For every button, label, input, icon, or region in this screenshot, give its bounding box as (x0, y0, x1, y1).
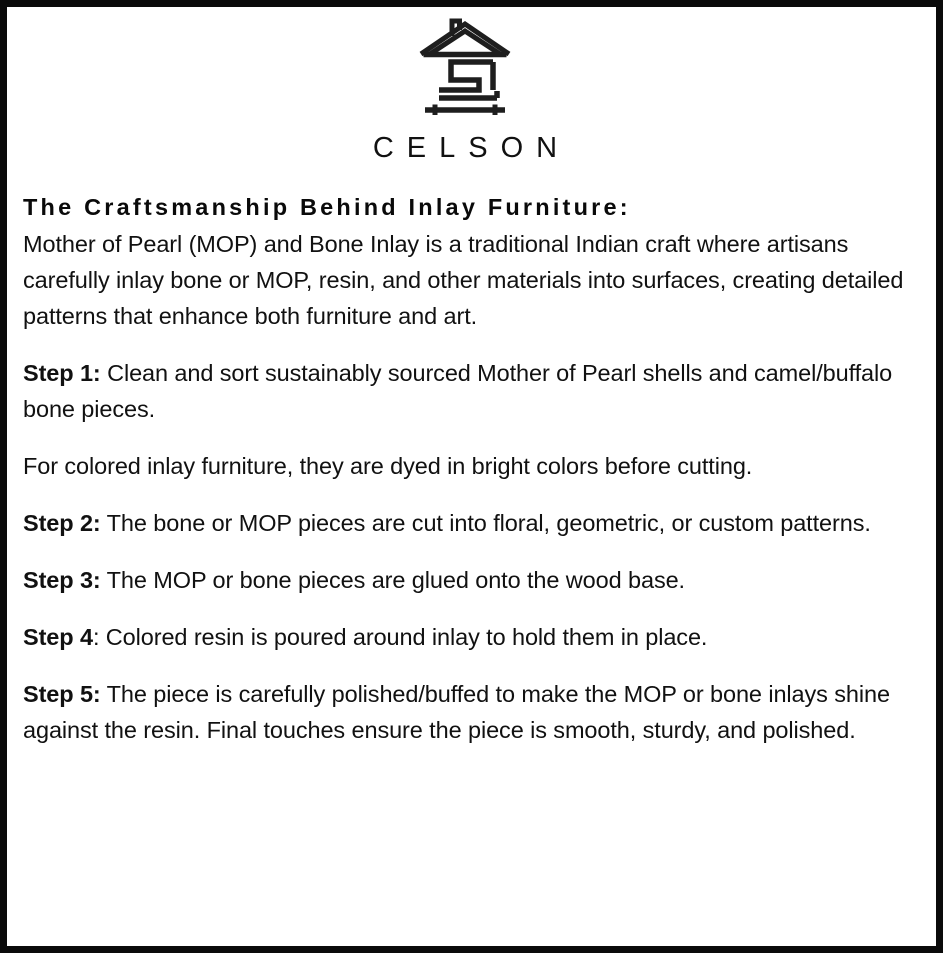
body-copy: Mother of Pearl (MOP) and Bone Inlay is … (23, 221, 914, 748)
paragraph-colored-inlay-note: For colored inlay furniture, they are dy… (23, 449, 914, 485)
paragraph-lead: Step 2: (23, 510, 101, 536)
paragraph-text: Clean and sort sustainably sourced Mothe… (23, 360, 892, 422)
brand-header: CELSON (16, 16, 914, 163)
paragraph-text: The MOP or bone pieces are glued onto th… (101, 567, 685, 593)
paragraph-step-3: Step 3: The MOP or bone pieces are glued… (23, 563, 914, 599)
paragraph-text: Mother of Pearl (MOP) and Bone Inlay is … (23, 231, 903, 329)
paragraph-lead: Step 4 (23, 624, 93, 650)
paragraph-lead: Step 1: (23, 360, 101, 386)
infographic-card: CELSON The Craftsmanship Behind Inlay Fu… (0, 0, 943, 953)
paragraph-lead: Step 5: (23, 681, 101, 707)
paragraph-lead: Step 3: (23, 567, 101, 593)
paragraph-text: The bone or MOP pieces are cut into flor… (101, 510, 871, 536)
paragraph-text: The piece is carefully polished/buffed t… (23, 681, 890, 743)
card-content: CELSON The Craftsmanship Behind Inlay Fu… (7, 7, 936, 946)
paragraph-step-4: Step 4: Colored resin is poured around i… (23, 620, 914, 656)
paragraph-step-1: Step 1: Clean and sort sustainably sourc… (23, 356, 914, 428)
paragraph-text: Colored resin is poured around inlay to … (99, 624, 707, 650)
brand-wordmark: CELSON (16, 134, 914, 163)
paragraph-intro: Mother of Pearl (MOP) and Bone Inlay is … (23, 227, 914, 335)
page-title: The Craftsmanship Behind Inlay Furniture… (23, 193, 914, 221)
paragraph-step-5: Step 5: The piece is carefully polished/… (23, 677, 914, 749)
house-logo-icon (417, 18, 513, 119)
paragraph-text: For colored inlay furniture, they are dy… (23, 453, 752, 479)
paragraph-step-2: Step 2: The bone or MOP pieces are cut i… (23, 506, 914, 542)
